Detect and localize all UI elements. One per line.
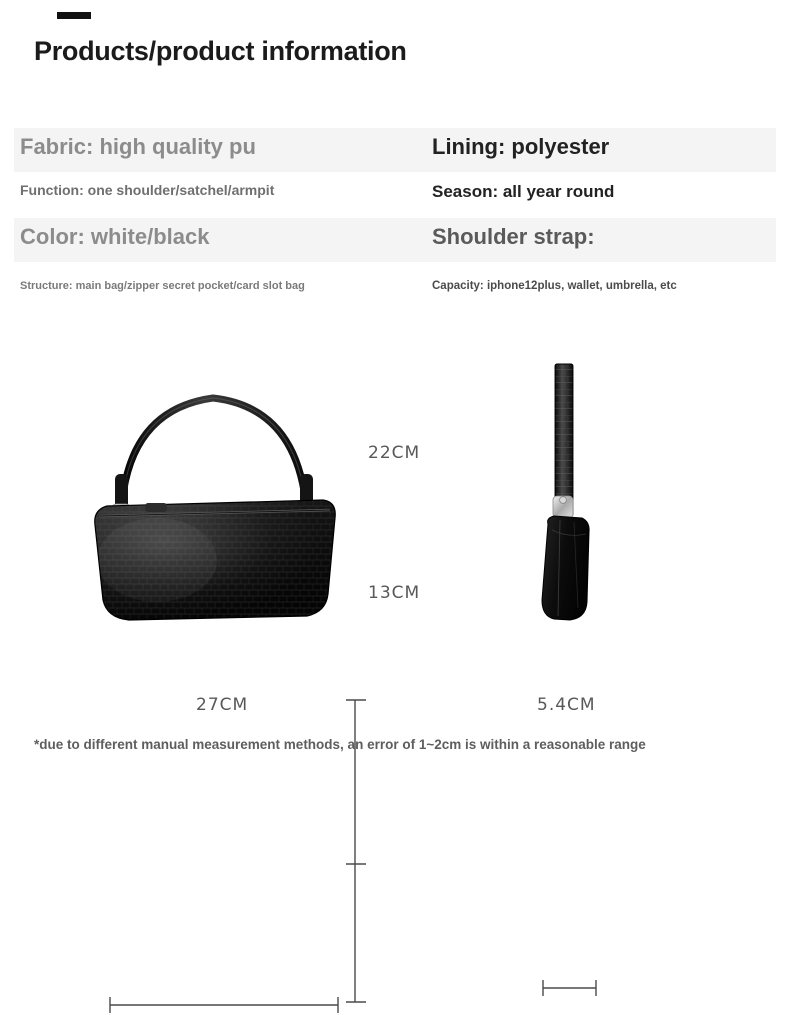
dimension-label-height-upper: 22CM — [368, 443, 420, 463]
spec-shoulder-strap: Shoulder strap: — [432, 224, 595, 250]
bag-front-view-image — [85, 350, 345, 660]
dimension-label-width-side: 5.4CM — [537, 695, 596, 715]
spec-fabric: Fabric: high quality pu — [20, 134, 256, 160]
spec-structure: Structure: main bag/zipper secret pocket… — [20, 280, 305, 292]
bag-body-side — [542, 516, 589, 620]
header-accent-bar — [57, 12, 91, 19]
page-title: Products/product information — [34, 36, 407, 67]
dimension-label-width-front: 27CM — [196, 695, 248, 715]
spec-function: Function: one shoulder/satchel/armpit — [20, 182, 274, 198]
spec-capacity: Capacity: iphone12plus, wallet, umbrella… — [432, 280, 677, 292]
product-spec-table: Fabric: high quality pu Lining: polyeste… — [0, 128, 790, 308]
bag-side-view-image — [508, 350, 648, 660]
strap-clasp-side — [553, 496, 573, 518]
zipper-pull — [145, 503, 167, 512]
spec-color: Color: white/black — [20, 224, 209, 250]
product-figure — [0, 330, 790, 730]
spec-lining: Lining: polyester — [432, 134, 609, 160]
shoulder-strap-front — [121, 398, 307, 518]
dimension-label-height-lower: 13CM — [368, 583, 420, 603]
dimension-ruler-front-width — [100, 995, 350, 1015]
shoulder-strap-side — [555, 364, 573, 516]
dimension-ruler-side-width — [530, 978, 620, 998]
spec-season: Season: all year round — [432, 182, 614, 202]
measurement-disclaimer-note: *due to different manual measurement met… — [34, 737, 646, 752]
